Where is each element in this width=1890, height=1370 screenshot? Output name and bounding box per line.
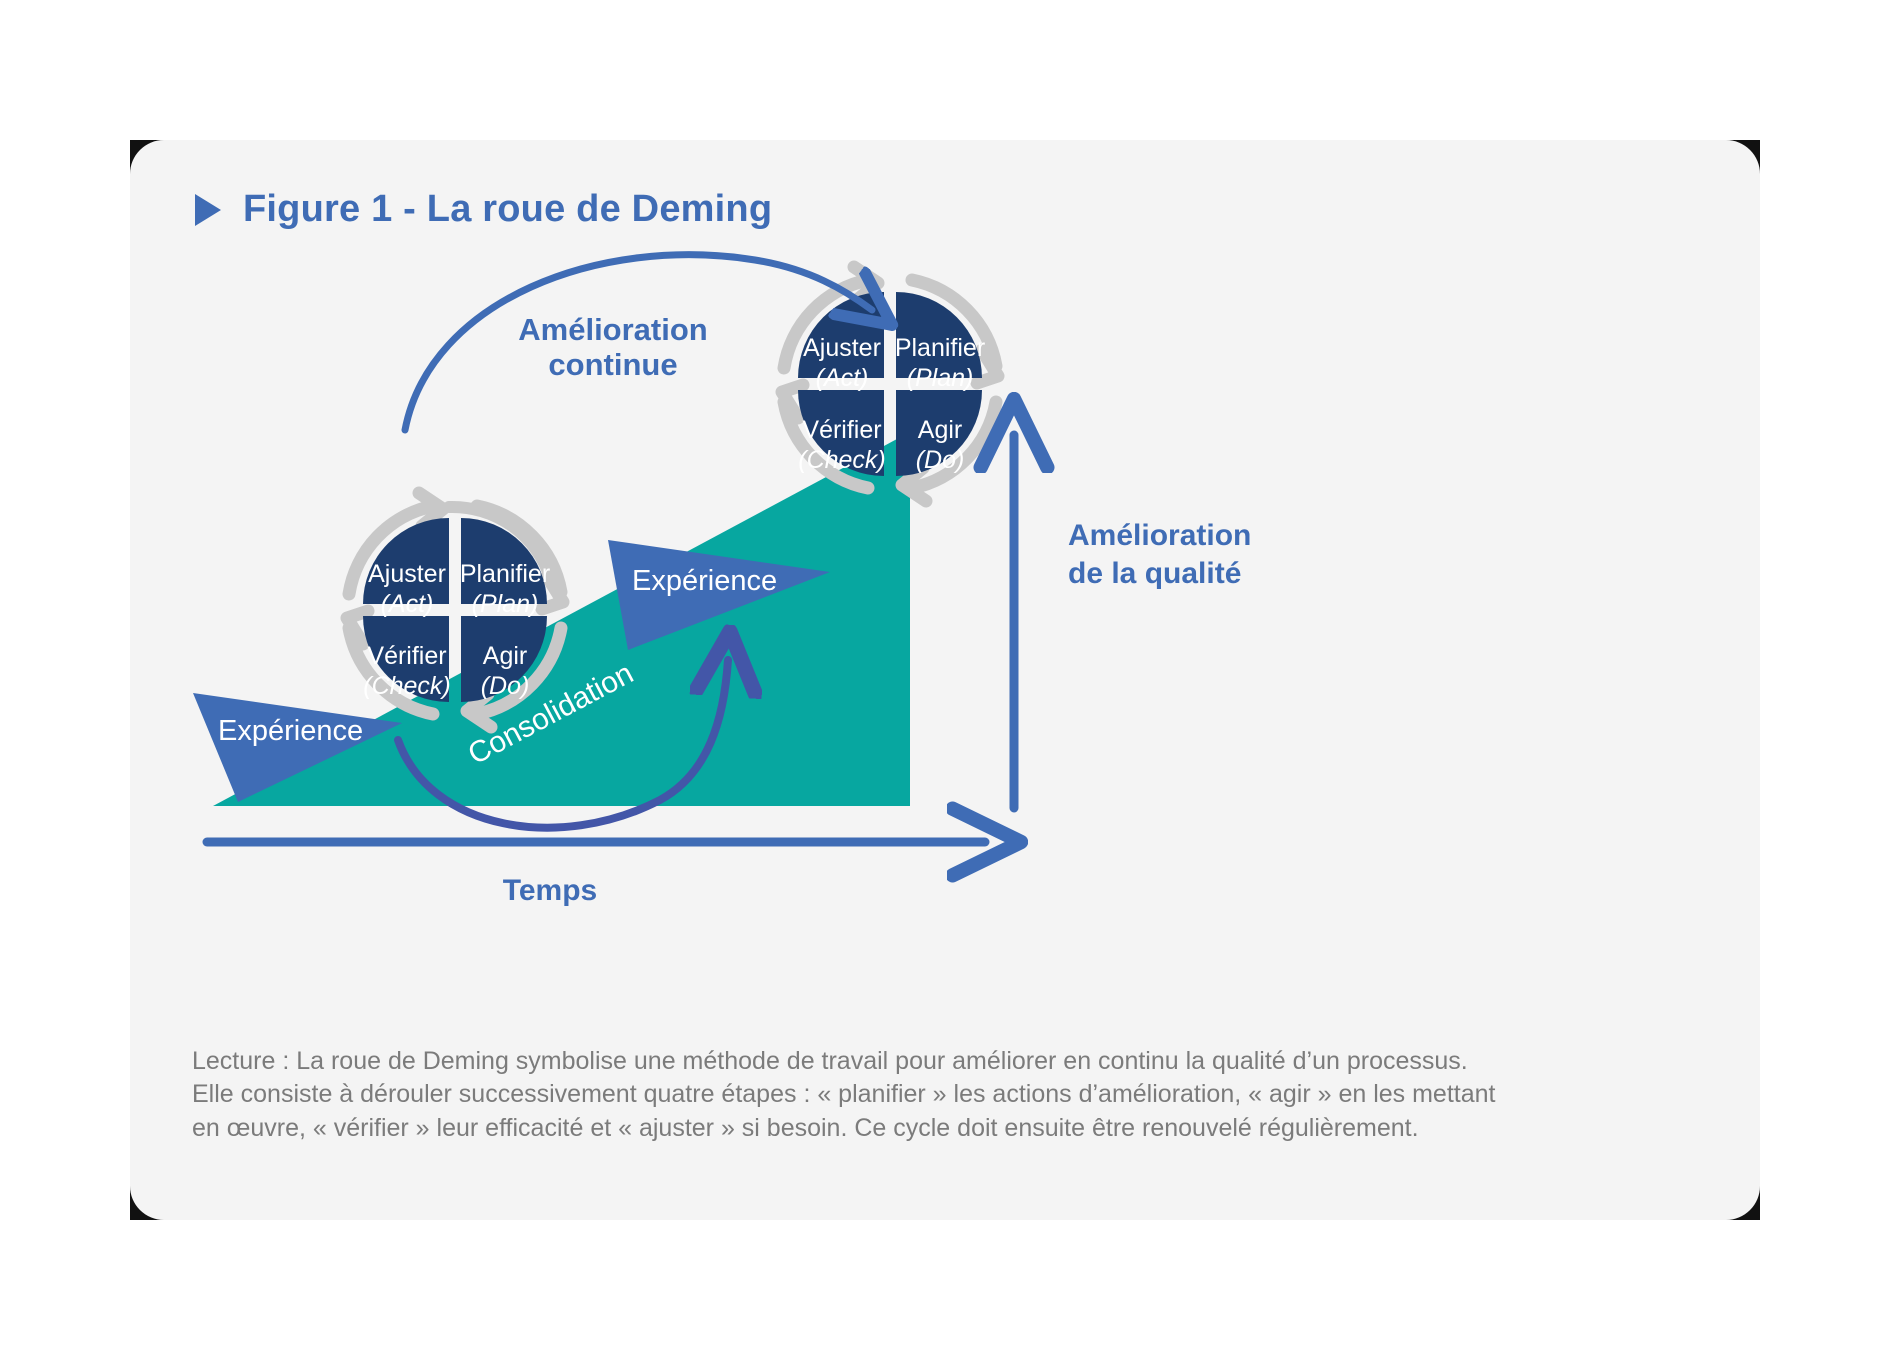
wheel-1-label-plan: Planifier bbox=[460, 560, 550, 588]
wheel-2-sublabel-do: (Do) bbox=[916, 446, 965, 474]
figure-root: Figure 1 - La roue de Deming bbox=[0, 0, 1890, 1370]
figure-card: Figure 1 - La roue de Deming bbox=[130, 140, 1760, 1220]
wheel-1-label-check: Vérifier bbox=[367, 642, 446, 670]
wheel-2-sublabel-act: (Act) bbox=[816, 364, 869, 392]
wheel-1-label-act: Ajuster bbox=[368, 560, 446, 588]
wheel-2-label-plan: Planifier bbox=[895, 334, 985, 362]
figure-card-surface: Figure 1 - La roue de Deming bbox=[130, 140, 1760, 1220]
figure-caption: Lecture : La roue de Deming symbolise un… bbox=[192, 1045, 1612, 1145]
caption-line-1: Lecture : La roue de Deming symbolise un… bbox=[192, 1045, 1612, 1078]
wheel-1-sublabel-plan: (Plan) bbox=[472, 590, 539, 618]
caption-line-2: Elle consiste à dérouler successivement … bbox=[192, 1078, 1612, 1111]
wheel-2-sublabel-plan: (Plan) bbox=[907, 364, 974, 392]
wheel-1-sublabel-act: (Act) bbox=[381, 590, 434, 618]
amelioration-continue-line2: continue bbox=[548, 347, 677, 382]
wheel-2-sublabel-check: (Check) bbox=[798, 446, 886, 474]
temps-label: Temps bbox=[503, 874, 597, 907]
wheel-2-label-check: Vérifier bbox=[802, 416, 881, 444]
experience-right-label: Expérience bbox=[632, 565, 777, 597]
amelioration-qualite-line1: Amélioration bbox=[1068, 519, 1251, 552]
wheel-1-sublabel-do: (Do) bbox=[481, 672, 530, 700]
amelioration-qualite-line2: de la qualité bbox=[1068, 557, 1241, 590]
wheel-2-label-do: Agir bbox=[918, 416, 962, 444]
caption-line-3: en œuvre, « vérifier » leur efficacité e… bbox=[192, 1112, 1612, 1145]
wheel-1-label-do: Agir bbox=[483, 642, 527, 670]
experience-left-label: Expérience bbox=[218, 715, 363, 747]
amelioration-continue-line1: Amélioration bbox=[518, 312, 707, 347]
wheel-2-label-act: Ajuster bbox=[803, 334, 881, 362]
wheel-1-sublabel-check: (Check) bbox=[363, 672, 451, 700]
